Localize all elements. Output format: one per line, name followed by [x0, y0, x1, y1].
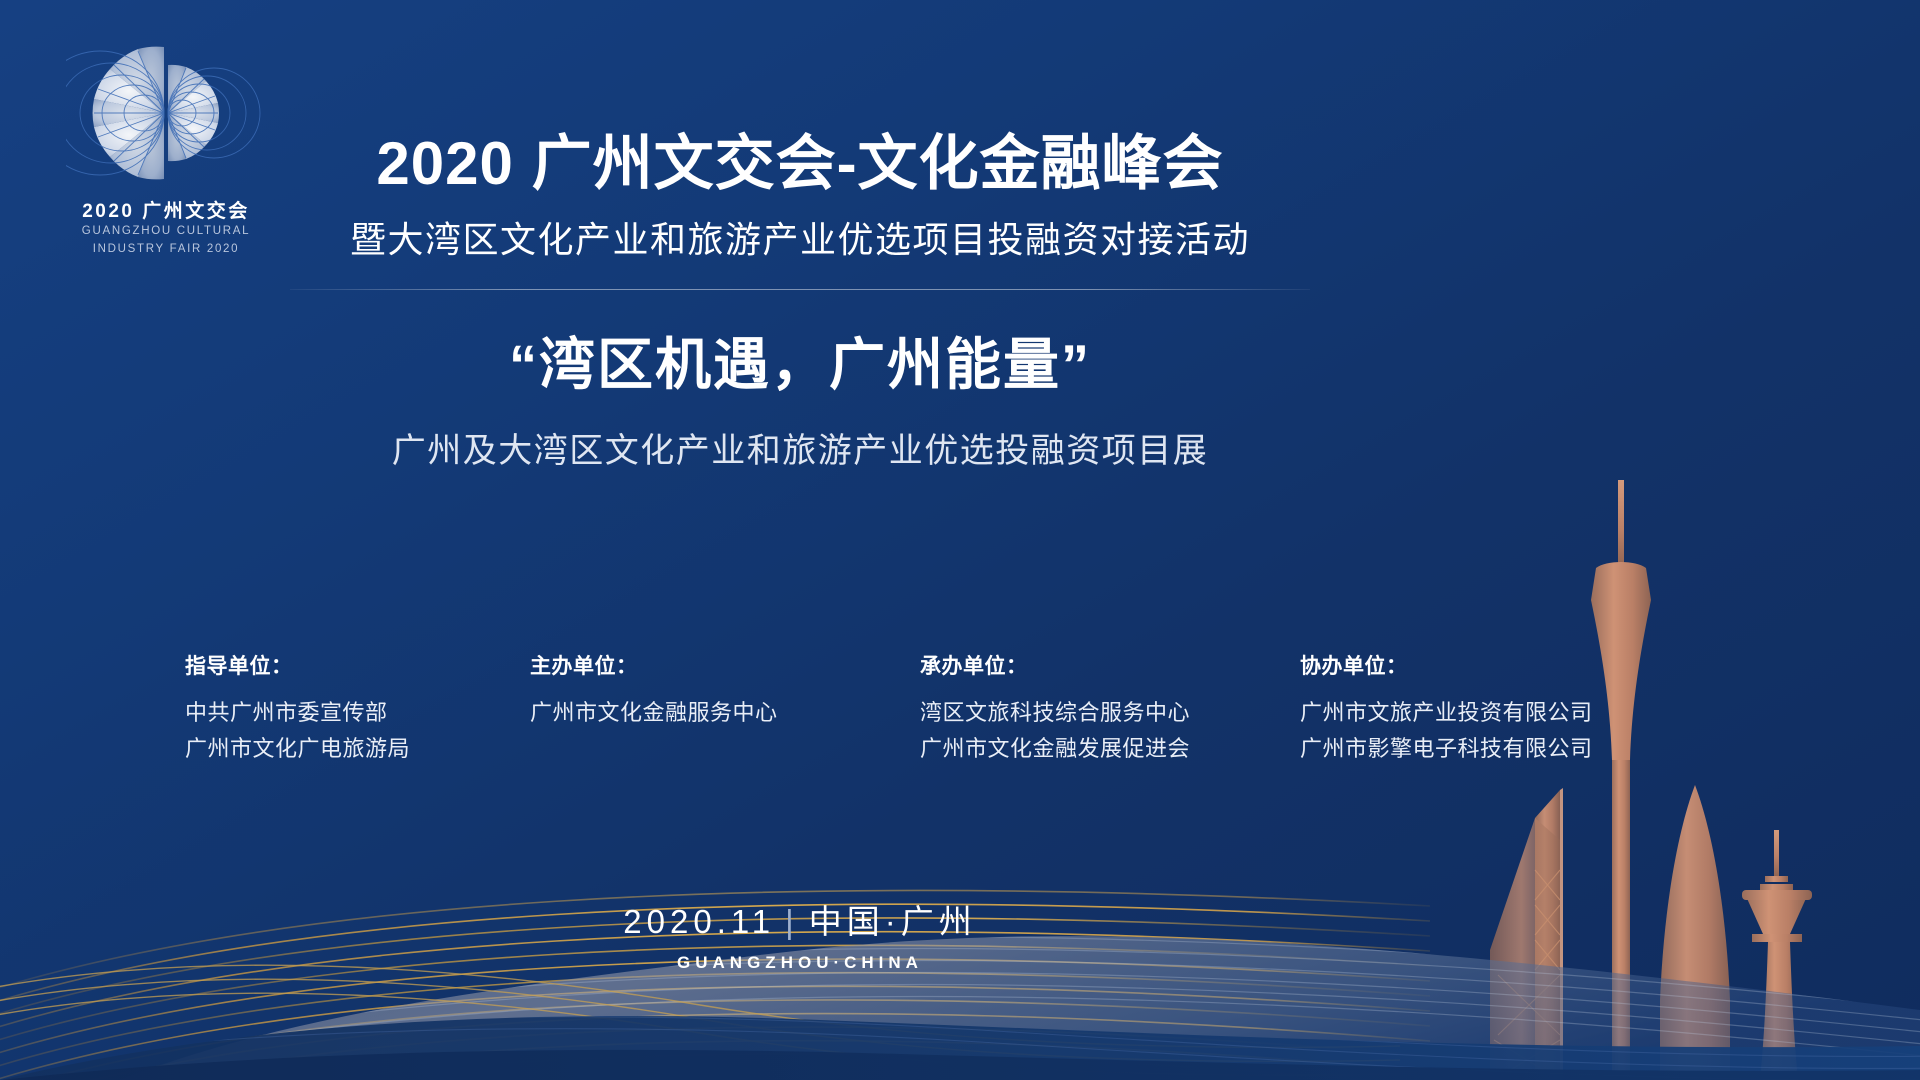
- organizer-item: 中共广州市委宣传部: [185, 695, 530, 731]
- organizer-item: 湾区文旅科技综合服务中心: [920, 695, 1300, 731]
- logo-english-line1: GUANGZHOU CULTURAL: [56, 223, 276, 241]
- organizer-section: 指导单位： 中共广州市委宣传部 广州市文化广电旅游局 主办单位： 广州市文化金融…: [185, 650, 1705, 766]
- organizer-block-guidance: 指导单位： 中共广州市委宣传部 广州市文化广电旅游局: [185, 650, 530, 766]
- organizer-title: 指导单位：: [185, 650, 530, 680]
- organizer-title: 协办单位：: [1300, 650, 1645, 680]
- event-logo: 2020 广州文交会 GUANGZHOU CULTURAL INDUSTRY F…: [56, 38, 276, 259]
- logo-english-line2: INDUSTRY FAIR 2020: [56, 241, 276, 259]
- organizer-block-host: 主办单位： 广州市文化金融服务中心: [530, 650, 920, 766]
- footer-section: 2020.11|中国·广州 GUANGZHOU·CHINA: [0, 895, 1600, 973]
- page-subtitle: 暨大湾区文化产业和旅游产业优选项目投融资对接活动: [280, 211, 1320, 263]
- canton-tower: [1591, 480, 1651, 1080]
- organizer-item: 广州市文化广电旅游局: [185, 731, 530, 767]
- organizer-block-coorganizer: 协办单位： 广州市文旅产业投资有限公司 广州市影擎电子科技有限公司: [1300, 650, 1645, 766]
- event-slogan: “湾区机遇，广州能量”: [280, 320, 1320, 401]
- separator: |: [785, 903, 799, 940]
- organizer-item: 广州市文旅产业投资有限公司: [1300, 695, 1645, 731]
- organizer-item: 广州市文化金融发展促进会: [920, 731, 1300, 767]
- divider: [290, 289, 1310, 290]
- logo-chinese-name: 2020 广州文交会: [56, 196, 276, 223]
- event-location-cn: 中国·广州: [809, 903, 977, 940]
- organizer-title: 承办单位：: [920, 650, 1300, 680]
- event-location-en: GUANGZHOU·CHINA: [0, 953, 1600, 973]
- organizer-item: 广州市文化金融服务中心: [530, 695, 920, 731]
- organizer-block-undertaker: 承办单位： 湾区文旅科技综合服务中心 广州市文化金融发展促进会: [920, 650, 1300, 766]
- organizer-title: 主办单位：: [530, 650, 920, 680]
- pinnacle-tower: [1660, 785, 1730, 1080]
- butterfly-fan-logo-icon: [66, 38, 266, 188]
- organizer-item: 广州市影擎电子科技有限公司: [1300, 731, 1645, 767]
- observation-tower: [1742, 830, 1812, 1080]
- event-date: 2020.11: [623, 903, 775, 940]
- page-title: 2020 广州文交会-文化金融峰会: [280, 130, 1320, 197]
- poster-canvas: 2020 广州文交会 GUANGZHOU CULTURAL INDUSTRY F…: [0, 0, 1920, 1080]
- slogan-description: 广州及大湾区文化产业和旅游产业优选投融资项目展: [280, 423, 1320, 472]
- headline-section: 2020 广州文交会-文化金融峰会 暨大湾区文化产业和旅游产业优选项目投融资对接…: [280, 130, 1320, 472]
- event-date-location: 2020.11|中国·广州: [0, 895, 1600, 943]
